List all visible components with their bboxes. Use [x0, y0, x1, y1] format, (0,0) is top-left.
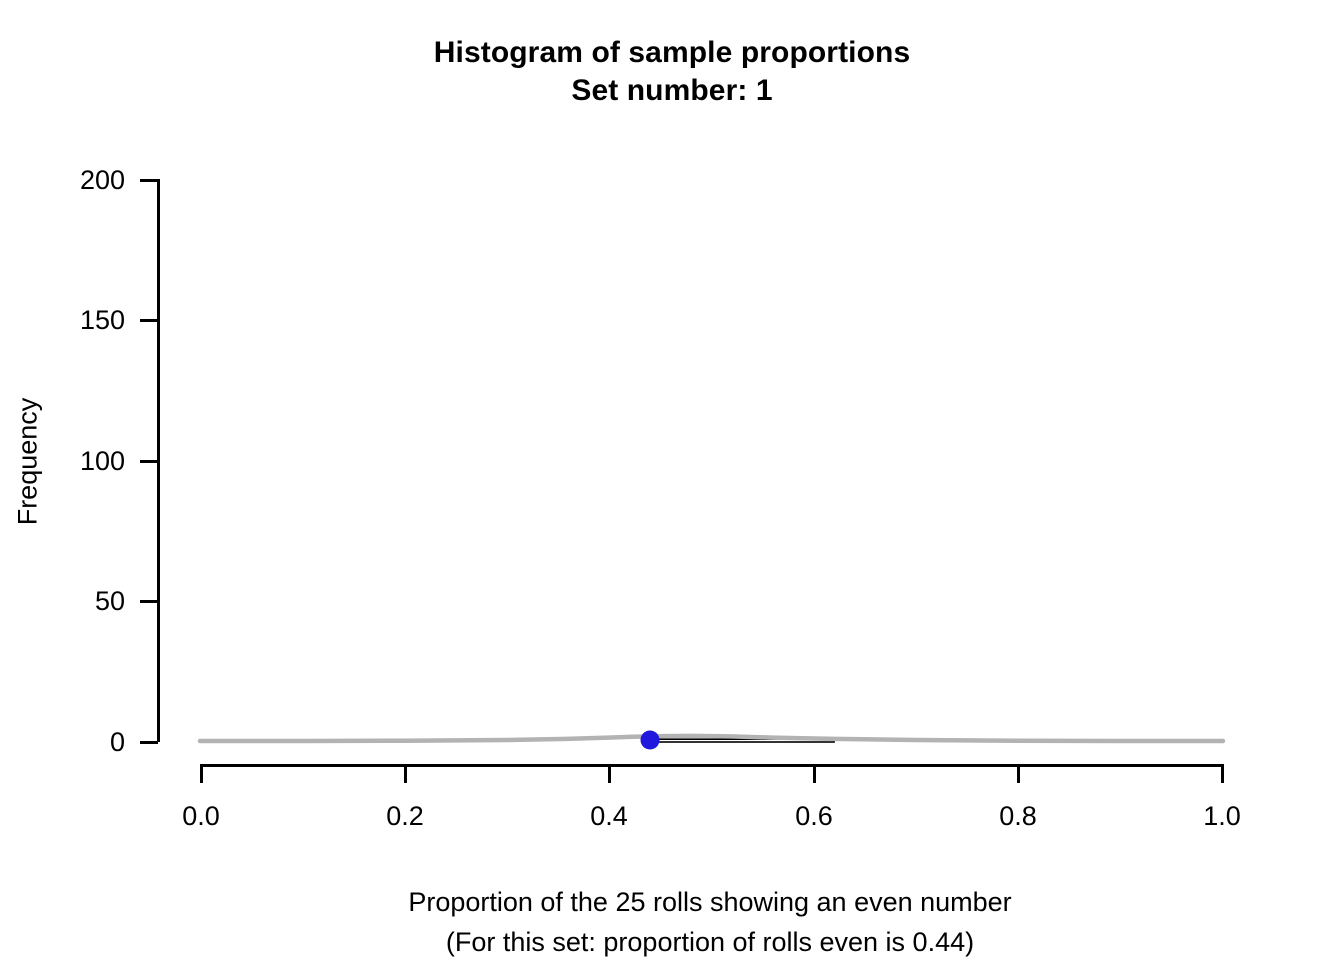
y-tick-mark-150 — [140, 319, 158, 322]
page-title: Histogram of sample proportions Set numb… — [0, 34, 1344, 110]
y-tick-mark-0 — [140, 741, 158, 744]
x-tick-label-0.2: 0.2 — [335, 803, 475, 830]
title-line-2: Set number: 1 — [0, 72, 1344, 110]
x-tick-label-0.6: 0.6 — [744, 803, 884, 830]
plot-canvas: Histogram of sample proportions Set numb… — [0, 0, 1344, 960]
density-curve — [200, 736, 1223, 741]
title-line-1: Histogram of sample proportions — [434, 36, 910, 69]
y-tick-label-50: 50 — [5, 588, 125, 615]
x-axis-title-line-2: (For this set: proportion of rolls even … — [0, 922, 1344, 960]
y-tick-label-150: 150 — [5, 307, 125, 334]
x-tick-label-0.8: 0.8 — [948, 803, 1088, 830]
x-axis-line — [200, 764, 1223, 767]
y-tick-mark-200 — [140, 179, 158, 182]
y-tick-label-200: 200 — [5, 167, 125, 194]
x-tick-mark-0.4 — [608, 764, 611, 783]
x-tick-label-0.4: 0.4 — [539, 803, 679, 830]
x-tick-label-1.0: 1.0 — [1152, 803, 1292, 830]
x-axis-title: Proportion of the 25 rolls showing an ev… — [0, 882, 1344, 960]
x-tick-label-0.0: 0.0 — [131, 803, 271, 830]
x-tick-mark-0.8 — [1017, 764, 1020, 783]
y-tick-label-0: 0 — [5, 729, 125, 756]
x-tick-mark-0.0 — [200, 764, 203, 783]
x-axis-title-line-1: Proportion of the 25 rolls showing an ev… — [408, 887, 1011, 917]
y-tick-mark-50 — [140, 600, 158, 603]
y-tick-mark-100 — [140, 460, 158, 463]
x-tick-mark-0.6 — [813, 764, 816, 783]
observed-proportion-marker — [641, 731, 660, 750]
histogram-bar — [650, 739, 834, 742]
x-tick-mark-0.2 — [404, 764, 407, 783]
y-axis-title: Frequency — [15, 382, 42, 542]
x-tick-mark-1.0 — [1221, 764, 1224, 783]
